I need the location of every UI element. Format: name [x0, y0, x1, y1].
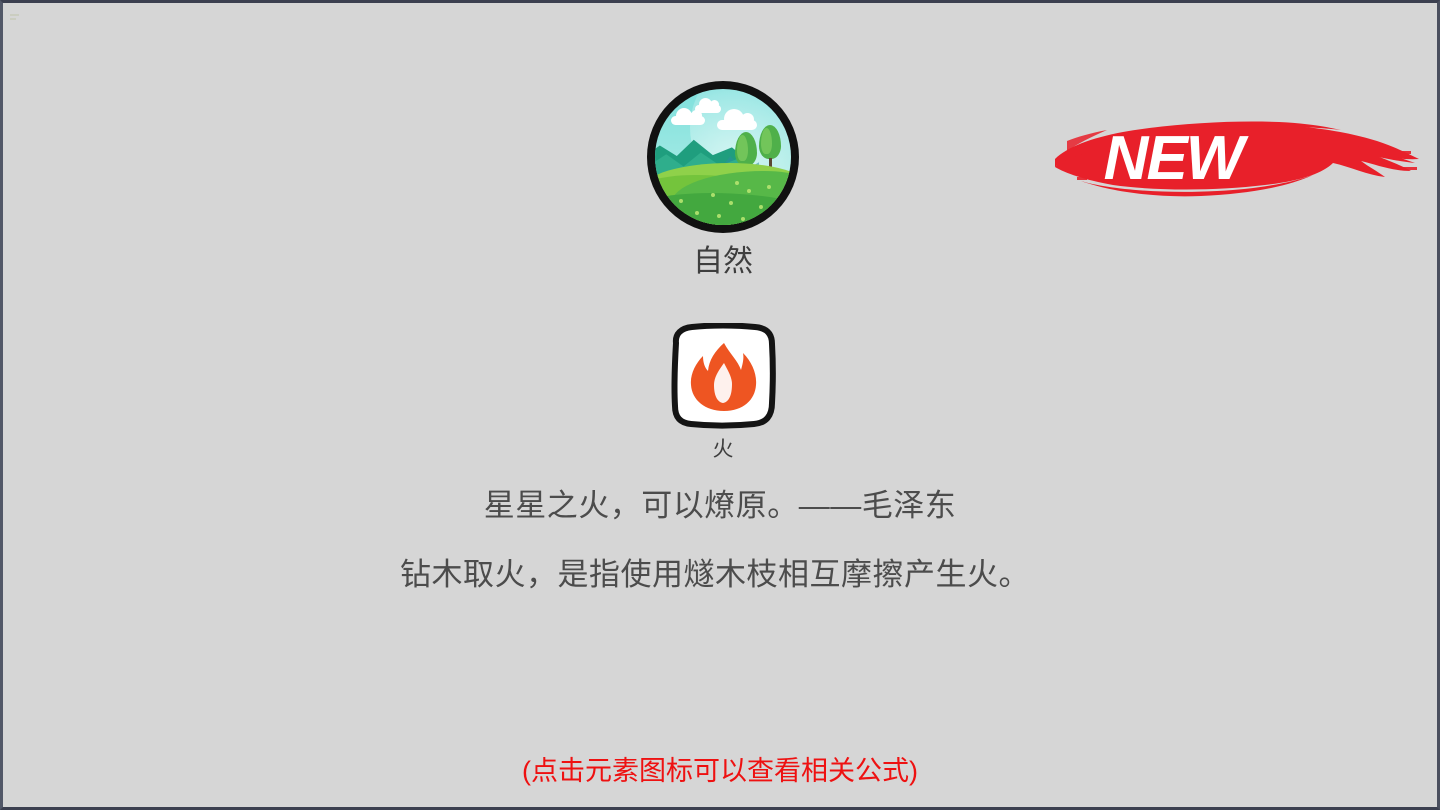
new-badge-text: NEW — [1104, 124, 1249, 193]
element-label-nature: 自然 — [598, 247, 848, 277]
cloud-icon — [671, 116, 705, 125]
corner-marker-icon — [10, 10, 24, 19]
element-label-fire: 火 — [598, 439, 848, 460]
description-line-1: 星星之火，可以燎原。——毛泽东 — [3, 480, 1437, 525]
element-nature[interactable]: 自然 — [598, 81, 848, 277]
hint-text: (点击元素图标可以查看相关公式) — [3, 749, 1437, 788]
nature-scene — [655, 89, 791, 225]
description-line-2: 钻木取火，是指使用燧木枝相互摩擦产生火。 — [0, 549, 1432, 594]
new-badge[interactable]: NEW — [1051, 111, 1423, 203]
cloud-icon — [717, 120, 757, 130]
content-stage: NEW — [3, 3, 1437, 807]
element-fire[interactable]: 火 — [598, 323, 848, 460]
flame-icon[interactable] — [662, 323, 784, 429]
cloud-icon — [695, 105, 721, 113]
app-window: NEW — [0, 0, 1440, 810]
nature-landscape-icon[interactable] — [647, 81, 799, 233]
hill-darkest — [655, 193, 791, 225]
